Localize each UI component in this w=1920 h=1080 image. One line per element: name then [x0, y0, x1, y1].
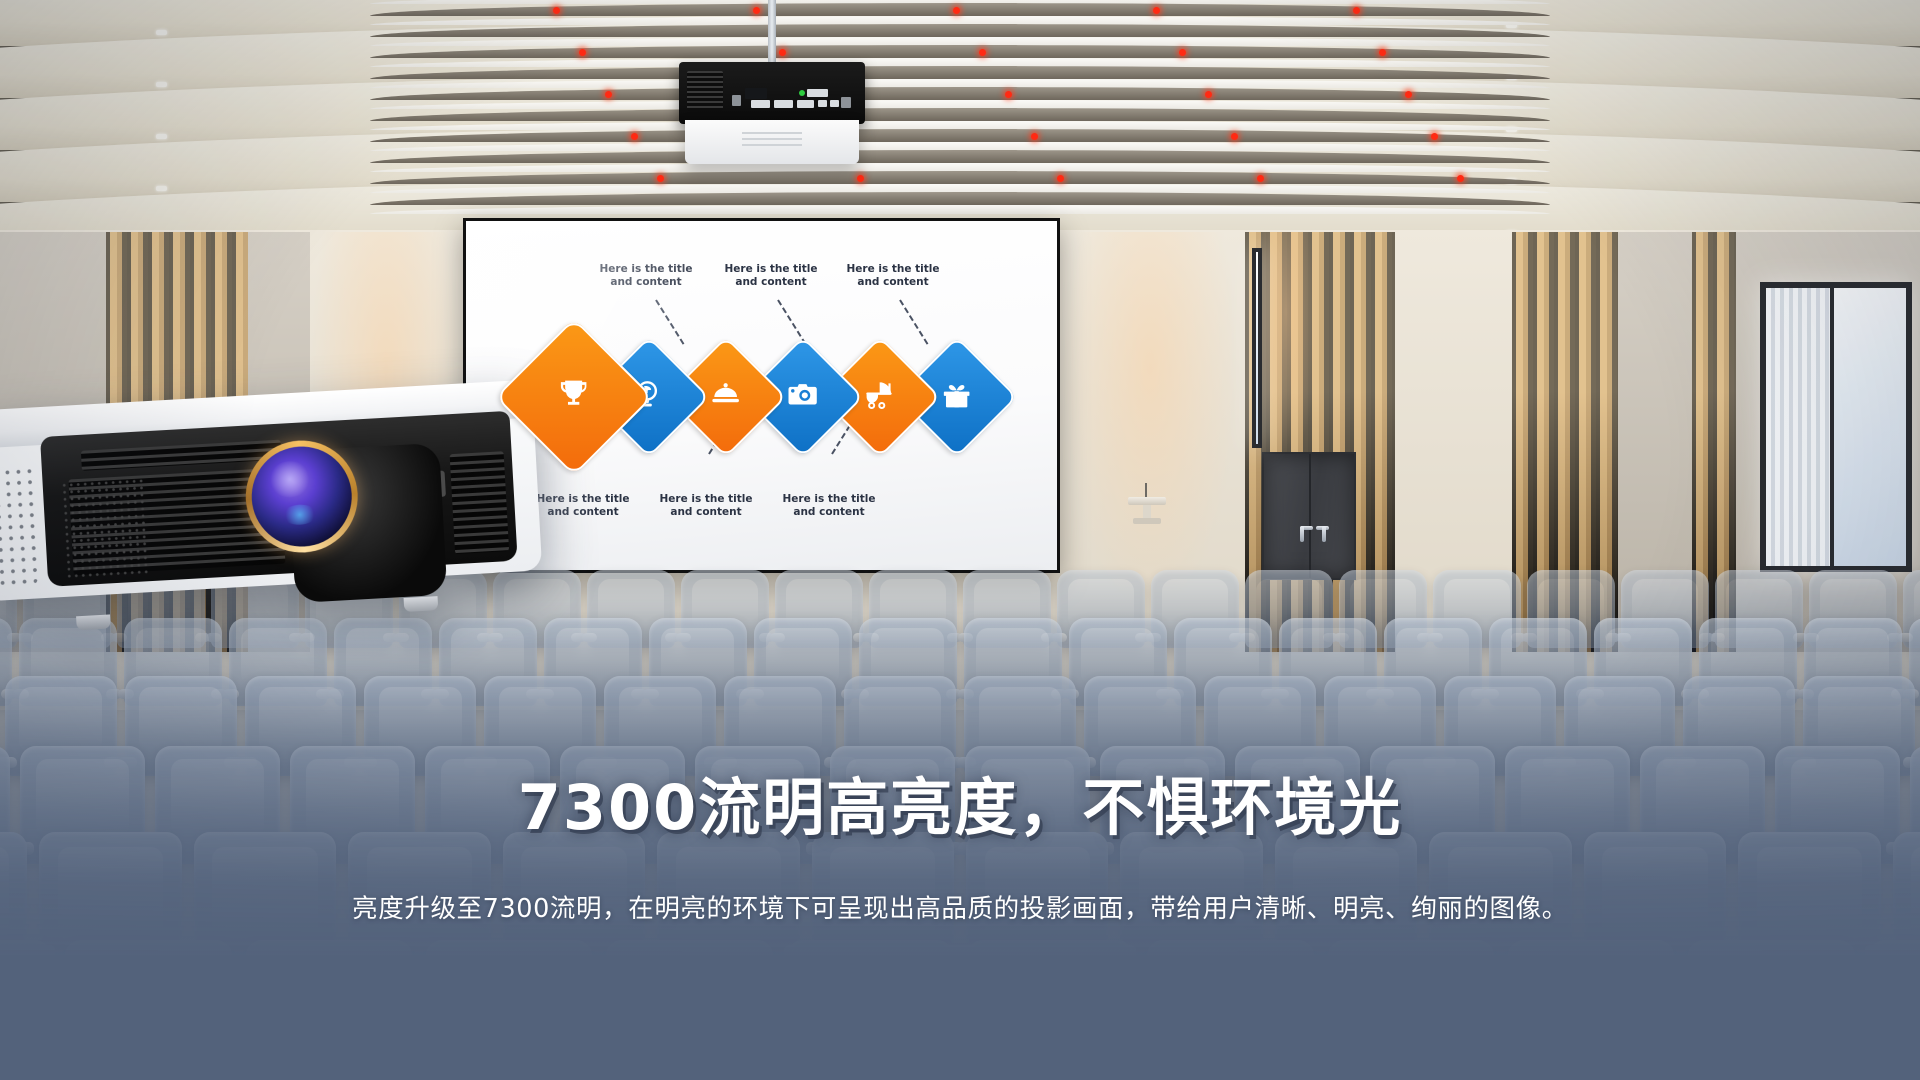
lectern-top: [1128, 497, 1166, 505]
ceiling-slat: [370, 171, 1550, 184]
ceiling-red-led: [1205, 91, 1212, 98]
seat-armrest-left: [957, 1076, 985, 1080]
gift-icon: [941, 379, 973, 416]
ceiling-slat: [370, 24, 1550, 37]
auditorium-seat: [1869, 940, 1920, 1080]
window-mullion-v: [1830, 288, 1834, 566]
window-left-far: [1252, 248, 1262, 448]
seat-armrest-left: [236, 1076, 264, 1080]
ceiling-slat: [370, 129, 1550, 142]
seat-armrest-left: [1137, 1076, 1165, 1080]
page-subtitle: 亮度升级至7300流明，在明亮的环境下可呈现出高品质的投影画面，带给用户清晰、明…: [0, 888, 1920, 925]
auditorium-seat: [1328, 940, 1494, 1080]
ceiling-light-dot: [156, 186, 167, 191]
port-side-left: [732, 95, 741, 106]
ceiling-red-led: [1231, 133, 1238, 140]
port-usb-1: [818, 100, 827, 107]
ceiling-red-led: [1379, 49, 1386, 56]
marketing-banner: Here is the titleand contentHere is the …: [0, 0, 1920, 1080]
projector-grille-right: [450, 451, 509, 554]
caption-line2: and content: [818, 276, 968, 289]
projector-lens-glass: [249, 444, 354, 549]
ceiling-red-led: [1005, 91, 1012, 98]
door-handle-right-v: [1322, 526, 1326, 542]
auditorium-seat: [426, 940, 592, 1080]
ceiling-red-led: [1431, 133, 1438, 140]
port-hdmi-1: [751, 100, 770, 108]
lectern-stem: [1143, 505, 1151, 519]
projector-foot-right: [404, 596, 439, 612]
projector-mount-pole: [768, 0, 776, 64]
ceiling-projector-vent: [687, 71, 723, 111]
ceiling-slat: [370, 87, 1550, 100]
projector-side-vent: [0, 466, 38, 589]
ceiling-light-dot: [156, 82, 167, 87]
ceiling-red-led: [579, 49, 586, 56]
ceiling-red-led: [631, 133, 638, 140]
ceiling-slat: [370, 108, 1550, 121]
caption-line2: and content: [754, 506, 904, 519]
ceiling-slat: [370, 45, 1550, 58]
ceiling-red-led: [1457, 175, 1464, 182]
projected-slide: Here is the titleand contentHere is the …: [466, 221, 1057, 570]
ceiling-red-led: [1405, 91, 1412, 98]
ceiling-slat: [370, 150, 1550, 163]
door-handle-left-v: [1300, 526, 1304, 542]
seat-armrest-left: [55, 1076, 83, 1080]
ceiling-red-led: [605, 91, 612, 98]
seat-armrest-left: [1678, 1076, 1706, 1080]
ceiling-red-led: [1153, 7, 1160, 14]
lens-glint: [282, 504, 317, 526]
auditorium-seat: [606, 940, 772, 1080]
projector-dot-grille: [61, 477, 152, 578]
port-hdmi-2: [774, 100, 793, 108]
auditorium-seat: [1508, 940, 1674, 1080]
projection-screen: Here is the titleand contentHere is the …: [466, 221, 1057, 570]
port-serial: [807, 89, 828, 97]
slide-leader-line: [777, 299, 806, 344]
auditorium-seat: [1688, 940, 1854, 1080]
port-side-right: [841, 97, 851, 108]
lectern-foot: [1133, 518, 1161, 524]
window-with-blinds: [1760, 282, 1912, 572]
ceiling-red-led: [779, 49, 786, 56]
ceiling-projector-body: [679, 62, 865, 124]
auditorium-seat: [0, 940, 51, 1080]
stroller-icon: [864, 379, 896, 416]
auditorium-seat: [65, 940, 231, 1080]
auditorium-seat: [787, 940, 953, 1080]
caption-line1: Here is the title: [754, 493, 904, 506]
projector-foot-left: [76, 614, 111, 630]
seat-armrest-left: [1498, 1076, 1526, 1080]
seat-armrest-left: [1859, 1076, 1887, 1080]
trophy-icon: [557, 378, 591, 417]
ceiling-red-led: [1179, 49, 1186, 56]
ceiling-slat: [370, 66, 1550, 79]
seat-armrest-left: [1318, 1076, 1346, 1080]
camera-icon: [787, 379, 819, 416]
window-blinds: [1766, 288, 1830, 566]
ceiling-red-led: [657, 175, 664, 182]
ceiling-red-led: [553, 7, 560, 14]
ceiling-red-led: [1353, 7, 1360, 14]
projection-screen-frame: Here is the titleand contentHere is the …: [463, 218, 1060, 573]
caption-line1: Here is the title: [818, 263, 968, 276]
chassis-vent: [742, 132, 802, 148]
lectern: [1128, 483, 1166, 525]
ceiling-red-led: [753, 7, 760, 14]
ceiling-light-dot: [156, 30, 167, 35]
port-vga-1: [797, 100, 814, 108]
port-usb-2: [830, 100, 839, 107]
ceiling-slat-gap: [370, 205, 1550, 214]
projector-grille-upper: [81, 440, 282, 471]
slide-leader-line: [899, 299, 928, 344]
ceiling-red-led: [979, 49, 986, 56]
ceiling-red-led: [857, 175, 864, 182]
auditorium-seat: [246, 940, 412, 1080]
serving-dome-icon: [709, 378, 743, 417]
laser-projector-product: [0, 380, 544, 626]
power-indicator: [799, 90, 805, 96]
slide-caption-top: Here is the titleand content: [818, 263, 968, 289]
ceiling-slat: [370, 192, 1550, 205]
ceiling-red-led: [953, 7, 960, 14]
ceiling-slat: [370, 3, 1550, 16]
ceiling-light-dot: [156, 134, 167, 139]
ceiling-red-led: [1057, 175, 1064, 182]
seat-armrest-left: [416, 1076, 444, 1080]
auditorium-seat: [1147, 940, 1313, 1080]
auditorium-seat: [967, 940, 1133, 1080]
ceiling-slat-fan: [370, 0, 1550, 212]
ceiling-red-led: [1031, 133, 1038, 140]
seat-row: [0, 940, 1920, 1080]
port-audio-panel: [745, 88, 767, 99]
ceiling-mounted-projector: [679, 62, 865, 124]
slide-caption-bottom: Here is the titleand content: [754, 493, 904, 519]
seat-armrest-left: [596, 1076, 624, 1080]
ceiling-red-led: [1257, 175, 1264, 182]
seat-armrest-left: [777, 1076, 805, 1080]
page-title: 7300流明高亮度，不惧环境光: [0, 757, 1920, 847]
slide-leader-line: [655, 299, 684, 344]
ceiling-projector-chassis: [685, 120, 859, 164]
